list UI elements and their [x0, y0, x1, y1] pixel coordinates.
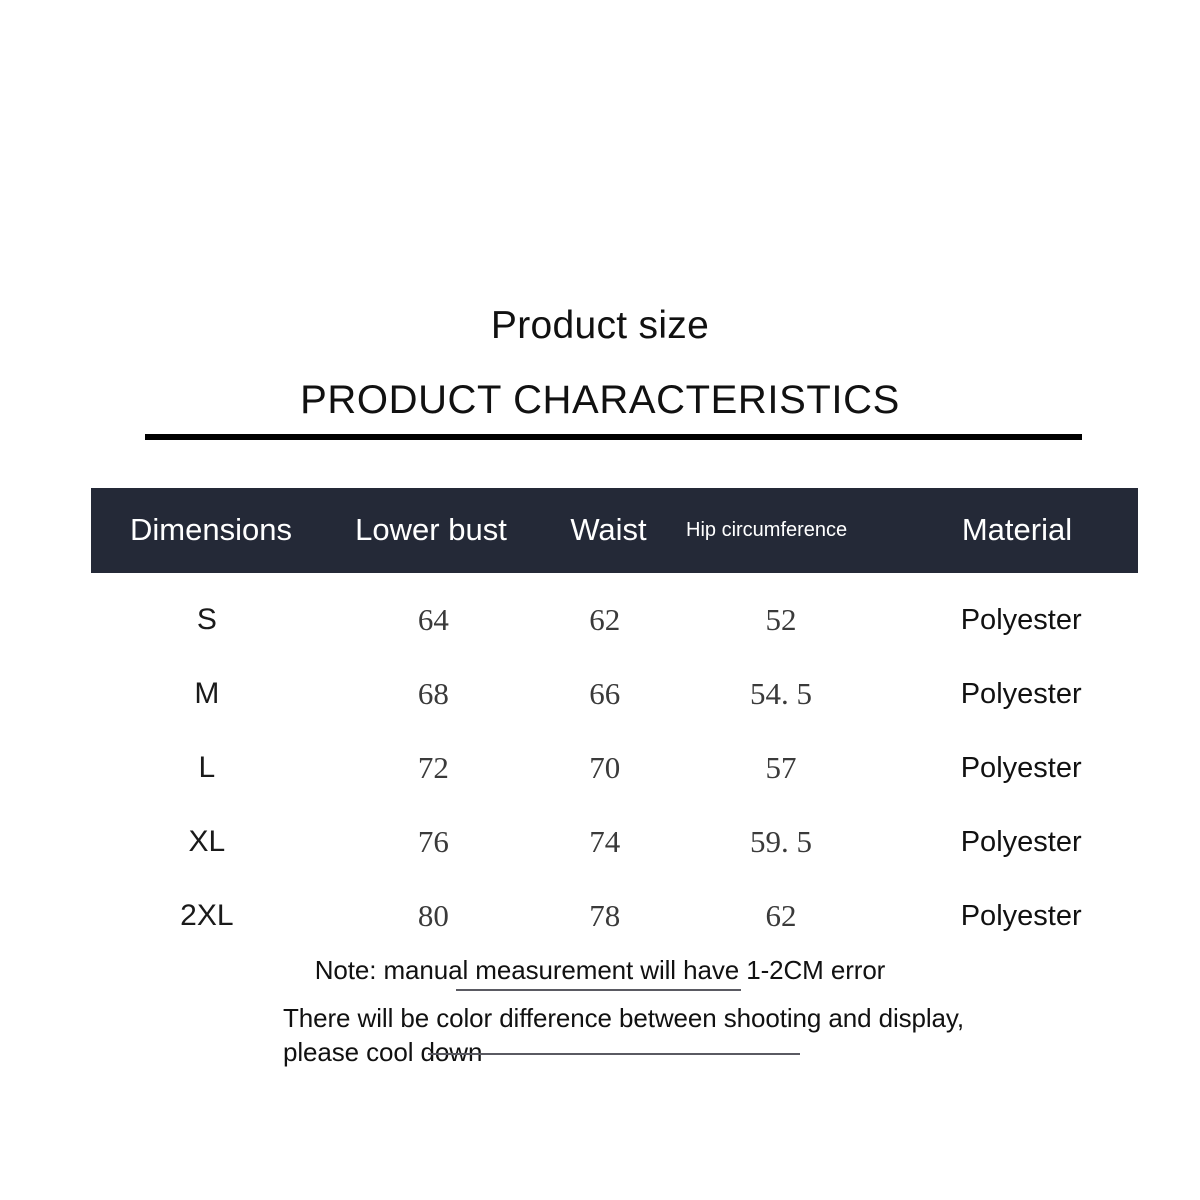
cell-hip-circumference: 62	[680, 898, 905, 934]
table-row: S 64 62 52 Polyester	[91, 583, 1138, 657]
cell-waist: 62	[530, 602, 680, 638]
cell-dimensions: L	[91, 751, 337, 785]
cell-waist: 78	[530, 898, 680, 934]
table-row: L 72 70 57 Polyester	[91, 731, 1138, 805]
cell-material: Polyester	[904, 604, 1138, 637]
cell-hip-circumference: 59. 5	[680, 824, 905, 860]
cell-lower-bust: 80	[337, 898, 530, 934]
column-header-waist: Waist	[531, 514, 686, 547]
cell-material: Polyester	[904, 900, 1138, 933]
table-body: S 64 62 52 Polyester M 68 66 54. 5 Polye…	[91, 573, 1138, 953]
table-row: M 68 66 54. 5 Polyester	[91, 657, 1138, 731]
product-size-table: Dimensions Lower bust Waist Hip circumfe…	[91, 488, 1138, 953]
cell-material: Polyester	[904, 678, 1138, 711]
cell-lower-bust: 72	[337, 750, 530, 786]
cell-dimensions: 2XL	[91, 899, 337, 933]
cell-waist: 70	[530, 750, 680, 786]
size-chart-canvas: Product size PRODUCT CHARACTERISTICS Dim…	[0, 0, 1200, 1200]
cell-dimensions: XL	[91, 825, 337, 859]
column-header-hip-circumference: Hip circumference	[686, 519, 896, 541]
cell-hip-circumference: 54. 5	[680, 676, 905, 712]
cell-lower-bust: 76	[337, 824, 530, 860]
cell-lower-bust: 64	[337, 602, 530, 638]
cell-lower-bust: 68	[337, 676, 530, 712]
cell-dimensions: S	[91, 603, 337, 637]
table-header-row: Dimensions Lower bust Waist Hip circumfe…	[91, 488, 1138, 573]
cell-material: Polyester	[904, 752, 1138, 785]
cell-waist: 66	[530, 676, 680, 712]
page-subtitle: PRODUCT CHARACTERISTICS	[0, 378, 1200, 422]
note-underline-2	[428, 1053, 800, 1055]
table-row: XL 76 74 59. 5 Polyester	[91, 805, 1138, 879]
page-title: Product size	[0, 305, 1200, 348]
title-divider	[145, 434, 1082, 440]
note-color-difference: There will be color difference between s…	[283, 1001, 983, 1070]
cell-hip-circumference: 57	[680, 750, 905, 786]
note-measurement-error: Note: manual measurement will have 1-2CM…	[0, 955, 1200, 986]
cell-hip-circumference: 52	[680, 602, 905, 638]
column-header-lower-bust: Lower bust	[331, 514, 531, 547]
cell-material: Polyester	[904, 826, 1138, 859]
note-underline-1	[456, 989, 741, 991]
table-row: 2XL 80 78 62 Polyester	[91, 879, 1138, 953]
cell-dimensions: M	[91, 677, 337, 711]
column-header-material: Material	[896, 514, 1138, 547]
column-header-dimensions: Dimensions	[91, 514, 331, 547]
cell-waist: 74	[530, 824, 680, 860]
